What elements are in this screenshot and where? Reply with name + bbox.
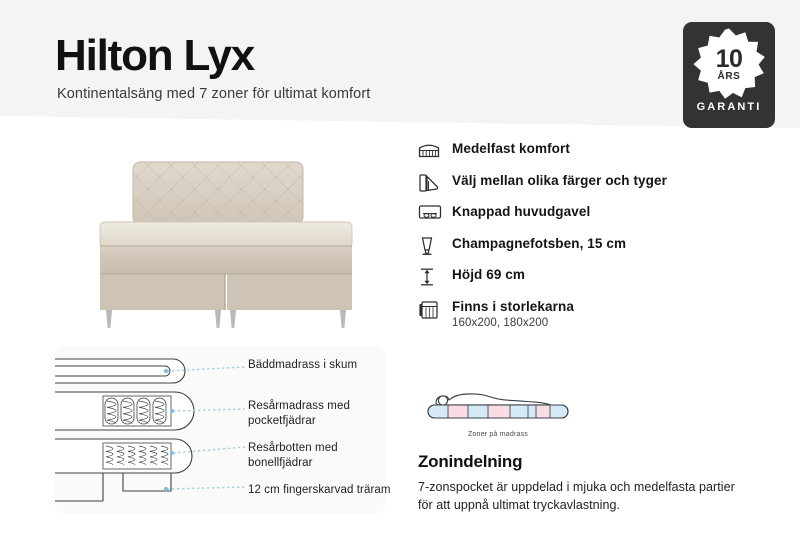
feature-row-height: Höjd 69 cm (418, 266, 758, 298)
warranty-badge: 10 ÅRS GARANTI (683, 22, 775, 128)
feature-label: Höjd 69 cm (452, 266, 525, 284)
zone-caption: Zoner på madrass (418, 431, 578, 438)
bed-leg-icon (418, 235, 452, 256)
feature-row-fabric: Välj mellan olika färger och tyger (418, 172, 758, 204)
feature-row-headboard: Knappad huvudgavel (418, 203, 758, 235)
zone-section: Zoner på madrass Zonindelning 7-zonspock… (418, 372, 768, 515)
height-arrow-icon (418, 266, 452, 287)
product-image (78, 142, 378, 342)
page-subtitle: Kontinentalsäng med 7 zoner för ultimat … (57, 86, 370, 102)
fabric-swatch-icon (418, 172, 452, 193)
zone-title: Zonindelning (418, 452, 768, 472)
feature-row-sizes: Finns i storlekarna 160x200, 180x200 (418, 298, 758, 330)
feature-label: Finns i storlekarna (452, 298, 574, 316)
page-title: Hilton Lyx (55, 33, 370, 79)
header-text-group: Hilton Lyx Kontinentalsäng med 7 zoner f… (55, 33, 370, 102)
zone-description: 7-zonspocket är uppdelad i mjuka och med… (418, 479, 743, 515)
starburst-icon: 10 ÅRS (693, 28, 765, 100)
bed-size-icon (418, 298, 452, 321)
layer-label: 12 cm fingerskarvad träram (248, 483, 391, 498)
layer-label: Bäddmadrass i skum (248, 358, 357, 373)
feature-label: Medelfast komfort (452, 140, 570, 158)
badge-number: 10 (693, 45, 765, 74)
feature-label: Knappad huvudgavel (452, 203, 590, 221)
layer-label: Resårbotten med bonellfjädrar (248, 441, 398, 470)
feature-sublabel: 160x200, 180x200 (452, 317, 574, 329)
feature-row-firmness: Medelfast komfort (418, 140, 758, 172)
zone-illustration (418, 372, 578, 430)
badge-years-label: ÅRS (693, 71, 765, 82)
layer-label: Resårmadrass med pocketfjädrar (248, 399, 398, 428)
badge-guarantee-label: GARANTI (697, 101, 762, 113)
mattress-firmness-icon (418, 140, 452, 159)
feature-label: Välj mellan olika färger och tyger (452, 172, 667, 190)
feature-row-leg: Champagnefotsben, 15 cm (418, 235, 758, 267)
feature-label: Champagnefotsben, 15 cm (452, 235, 626, 253)
headboard-icon (418, 203, 452, 220)
feature-list: Medelfast komfort Välj mellan olika färg… (418, 140, 758, 329)
product-info-sheet: Hilton Lyx Kontinentalsäng med 7 zoner f… (0, 0, 800, 533)
